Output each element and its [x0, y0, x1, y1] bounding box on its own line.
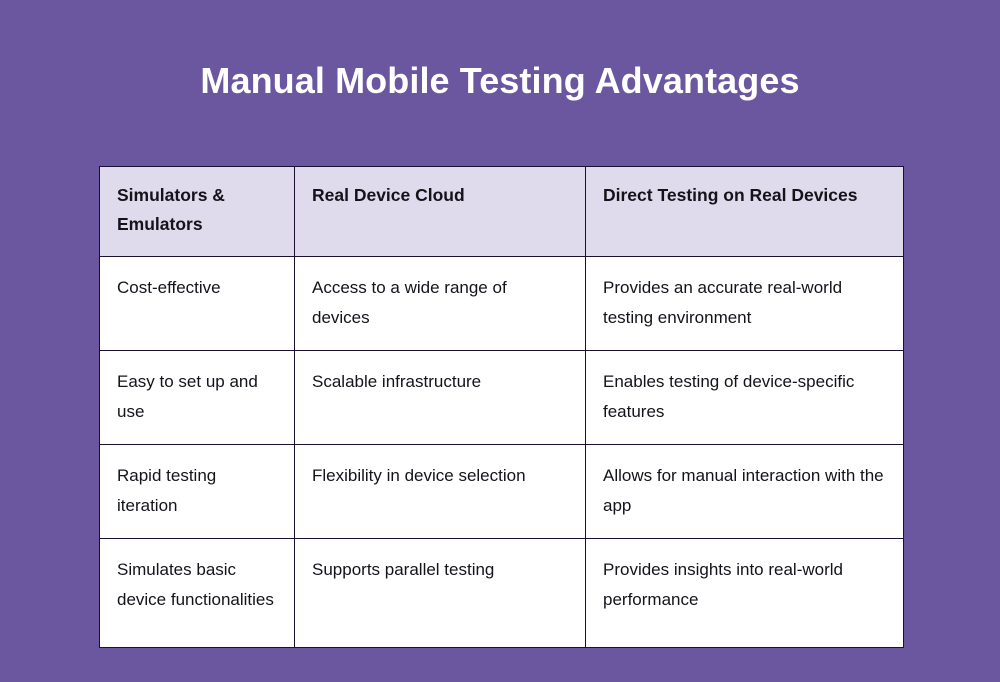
- column-header-simulators-emulators: Simulators & Emulators: [100, 167, 295, 257]
- table-header: Simulators & Emulators Real Device Cloud…: [100, 167, 904, 257]
- table-cell: Provides an accurate real-world testing …: [586, 257, 904, 351]
- table-header-row: Simulators & Emulators Real Device Cloud…: [100, 167, 904, 257]
- table-cell: Rapid testing iteration: [100, 445, 295, 539]
- table-row: Rapid testing iteration Flexibility in d…: [100, 445, 904, 539]
- table-cell: Enables testing of device-specific featu…: [586, 351, 904, 445]
- column-header-direct-testing-on-real-devices: Direct Testing on Real Devices: [586, 167, 904, 257]
- table-cell: Access to a wide range of devices: [295, 257, 586, 351]
- table-body: Cost-effective Access to a wide range of…: [100, 257, 904, 648]
- table-row: Simulates basic device functionalities S…: [100, 539, 904, 648]
- page-title: Manual Mobile Testing Advantages: [0, 58, 1000, 104]
- comparison-table-container: Simulators & Emulators Real Device Cloud…: [99, 166, 903, 648]
- table-row: Cost-effective Access to a wide range of…: [100, 257, 904, 351]
- slide-canvas: Manual Mobile Testing Advantages Simulat…: [0, 0, 1000, 682]
- comparison-table: Simulators & Emulators Real Device Cloud…: [99, 166, 904, 648]
- table-cell: Scalable infrastructure: [295, 351, 586, 445]
- table-cell: Simulates basic device functionalities: [100, 539, 295, 648]
- column-header-real-device-cloud: Real Device Cloud: [295, 167, 586, 257]
- table-cell: Provides insights into real-world perfor…: [586, 539, 904, 648]
- table-cell: Allows for manual interaction with the a…: [586, 445, 904, 539]
- table-cell: Cost-effective: [100, 257, 295, 351]
- table-row: Easy to set up and use Scalable infrastr…: [100, 351, 904, 445]
- table-cell: Supports parallel testing: [295, 539, 586, 648]
- table-cell: Flexibility in device selection: [295, 445, 586, 539]
- table-cell: Easy to set up and use: [100, 351, 295, 445]
